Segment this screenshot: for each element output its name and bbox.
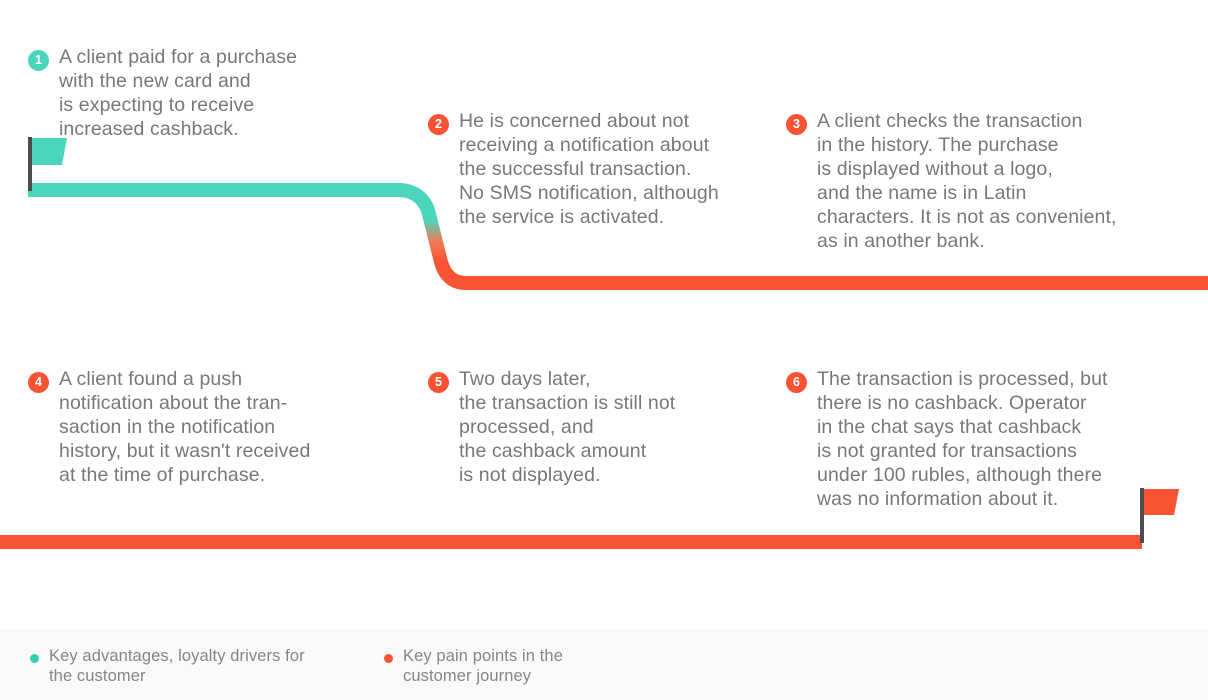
journey-step-5: 5 Two days later, the transaction is sti… [428, 367, 788, 487]
legend-item-label: Key advantages, loyalty drivers for the … [49, 646, 305, 686]
step-number-badge: 3 [786, 114, 807, 135]
step-description: A client paid for a purchase with the ne… [59, 45, 297, 141]
step-description: A client checks the transaction in the h… [817, 109, 1117, 253]
step-number-badge: 5 [428, 372, 449, 393]
step-description: The transaction is processed, but there … [817, 367, 1108, 511]
step-number-badge: 4 [28, 372, 49, 393]
step-number-badge: 6 [786, 372, 807, 393]
journey-step-3: 3 A client checks the transaction in the… [786, 109, 1186, 253]
journey-step-6: 6 The transaction is processed, but ther… [786, 367, 1186, 511]
step-number-badge: 2 [428, 114, 449, 135]
orange-dot-icon [384, 654, 393, 663]
legend-panel: Key advantages, loyalty drivers for the … [0, 629, 1208, 700]
journey-step-1: 1 A client paid for a purchase with the … [28, 45, 408, 141]
customer-journey-diagram: 1 A client paid for a purchase with the … [0, 0, 1208, 700]
legend-item-key-pain-points: Key pain points in the customer journey [384, 646, 563, 686]
teal-dot-icon [30, 654, 39, 663]
step-description: A client found a push notification about… [59, 367, 310, 487]
journey-step-4: 4 A client found a push notification abo… [28, 367, 408, 487]
legend-item-label: Key pain points in the customer journey [403, 646, 563, 686]
step-description: Two days later, the transaction is still… [459, 367, 675, 487]
legend-item-key-advantages: Key advantages, loyalty drivers for the … [30, 646, 305, 686]
step-number-badge: 1 [28, 50, 49, 71]
step-description: He is concerned about not receiving a no… [459, 109, 719, 229]
journey-step-2: 2 He is concerned about not receiving a … [428, 109, 808, 229]
start-flag-icon [28, 137, 67, 191]
